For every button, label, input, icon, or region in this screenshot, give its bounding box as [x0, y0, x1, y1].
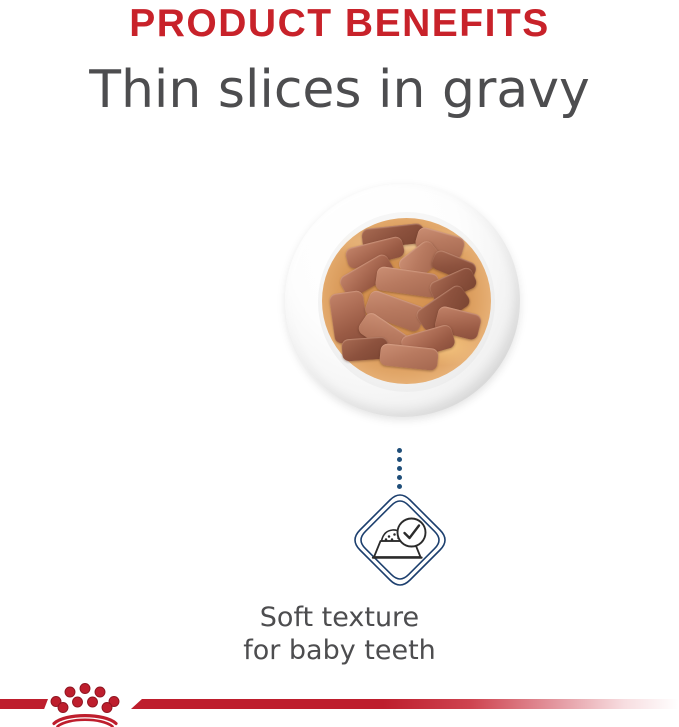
brand-rule-left — [0, 699, 48, 709]
bowl-plate — [285, 184, 520, 417]
benefit-caption-line-2: for baby teeth — [0, 635, 679, 668]
meat-slice — [329, 290, 370, 344]
royal-canin-crown-logo — [49, 682, 121, 727]
header: PRODUCT BENEFITS Thin slices in gravy — [0, 0, 679, 118]
product-benefits-panel: PRODUCT BENEFITS Thin slices in gravy — [0, 0, 679, 727]
hero-bowl-image — [281, 178, 525, 422]
benefit-caption: Soft texture for baby teeth — [0, 602, 679, 668]
page-eyebrow: PRODUCT BENEFITS — [0, 4, 679, 43]
brand-rule-right — [131, 699, 679, 709]
soft-texture-bowl-check-icon — [352, 492, 448, 588]
page-title: Thin slices in gravy — [0, 63, 679, 118]
dotted-connector-icon — [397, 448, 403, 490]
bowl-inner-well — [318, 212, 495, 392]
benefit-caption-line-1: Soft texture — [0, 602, 679, 635]
